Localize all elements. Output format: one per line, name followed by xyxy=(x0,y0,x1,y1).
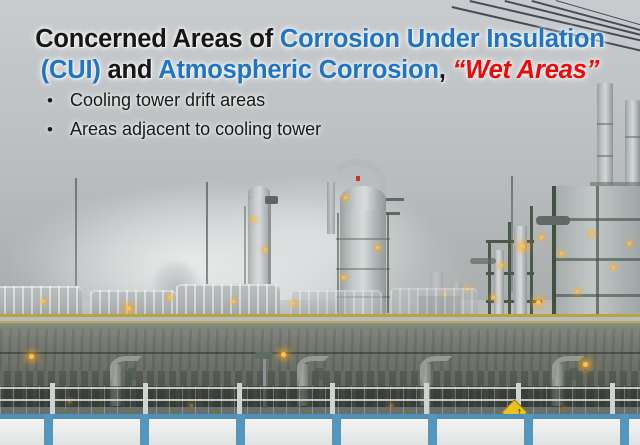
slide-canvas: ↕ xyxy=(0,0,640,445)
list-item: • Cooling tower drift areas xyxy=(30,88,550,117)
title-seg-and: and xyxy=(101,56,159,84)
title-seg-black: Concerned Areas of xyxy=(35,25,280,53)
title-seg-blue: Corrosion Under Insulation xyxy=(280,25,605,53)
sea-wall-seam xyxy=(0,352,640,354)
yellow-railing xyxy=(0,314,640,317)
bullet-text: Areas adjacent to cooling tower xyxy=(70,117,321,142)
title-line-1: Concerned Areas of Corrosion Under Insul… xyxy=(0,24,640,55)
bullet-marker-icon: • xyxy=(30,88,70,113)
slide-title: Concerned Areas of Corrosion Under Insul… xyxy=(0,24,640,86)
cooling-tower xyxy=(290,290,382,316)
cooling-tower xyxy=(390,288,478,316)
title-line-2: (CUI) and Atmospheric Corrosion, “Wet Ar… xyxy=(0,55,640,86)
bullet-text: Cooling tower drift areas xyxy=(70,88,265,113)
bullet-marker-icon: • xyxy=(30,117,70,142)
list-item: • Areas adjacent to cooling tower xyxy=(30,117,550,146)
title-seg-cui: (CUI) xyxy=(41,56,101,84)
bullet-list: • Cooling tower drift areas • Areas adja… xyxy=(30,88,550,146)
cooling-tower xyxy=(90,290,176,316)
cooling-tower xyxy=(0,286,82,316)
title-seg-wet-areas: “Wet Areas” xyxy=(453,56,600,84)
title-seg-comma: , xyxy=(439,56,453,84)
title-seg-atmospheric: Atmospheric Corrosion xyxy=(158,56,439,84)
cooling-tower xyxy=(176,284,280,316)
